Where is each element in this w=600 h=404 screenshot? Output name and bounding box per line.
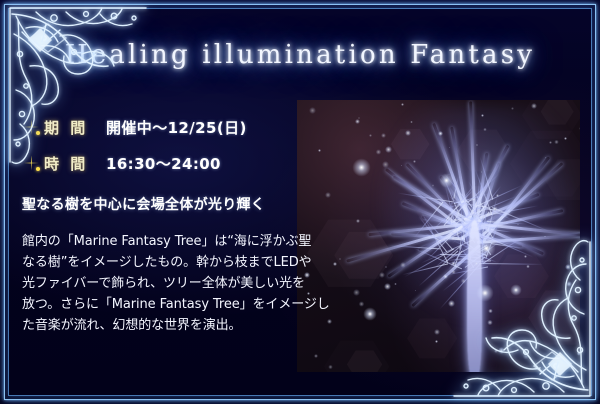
info-list: 期 間 開催中〜12/25(日) 時 間 16:30〜24:00 [24,112,286,184]
illuminated-tree-photo [297,100,580,372]
description-block: 聖なる樹を中心に会場全体が光り輝く 館内の「Marine Fantasy Tre… [22,196,284,336]
page-title: Healing illumination Fantasy [0,40,600,70]
description-body: 館内の「Marine Fantasy Tree」は“海に浮かぶ聖なる樹”をイメー… [22,231,284,336]
description-line: た音楽が流れ、幻想的な世界を演出。 [22,315,284,336]
info-label-period: 期 間 [44,117,92,138]
info-label-time: 時 間 [44,153,92,174]
description-heading: 聖なる樹を中心に会場全体が光り輝く [22,196,284,214]
sparkle-icon [24,120,39,135]
description-line: 放つ。さらに「Marine Fantasy Tree」をイメージし [22,294,284,315]
info-value-period: 開催中〜12/25(日) [106,117,247,138]
description-line: 館内の「Marine Fantasy Tree」は“海に浮かぶ聖 [22,231,284,252]
sparkle-icon [24,156,39,171]
tree-trunk [467,220,483,372]
description-line: なる樹”をイメージしたもの。幹から枝までLEDや [22,252,284,273]
info-row-period: 期 間 開催中〜12/25(日) [24,112,286,142]
description-line: 光ファイバーで飾られ、ツリー全体が美しい光を [22,273,284,294]
poster-canvas: Healing illumination Fantasy 期 間 開催中〜12/… [0,0,600,404]
info-row-time: 時 間 16:30〜24:00 [24,148,286,178]
info-value-time: 16:30〜24:00 [106,153,221,174]
